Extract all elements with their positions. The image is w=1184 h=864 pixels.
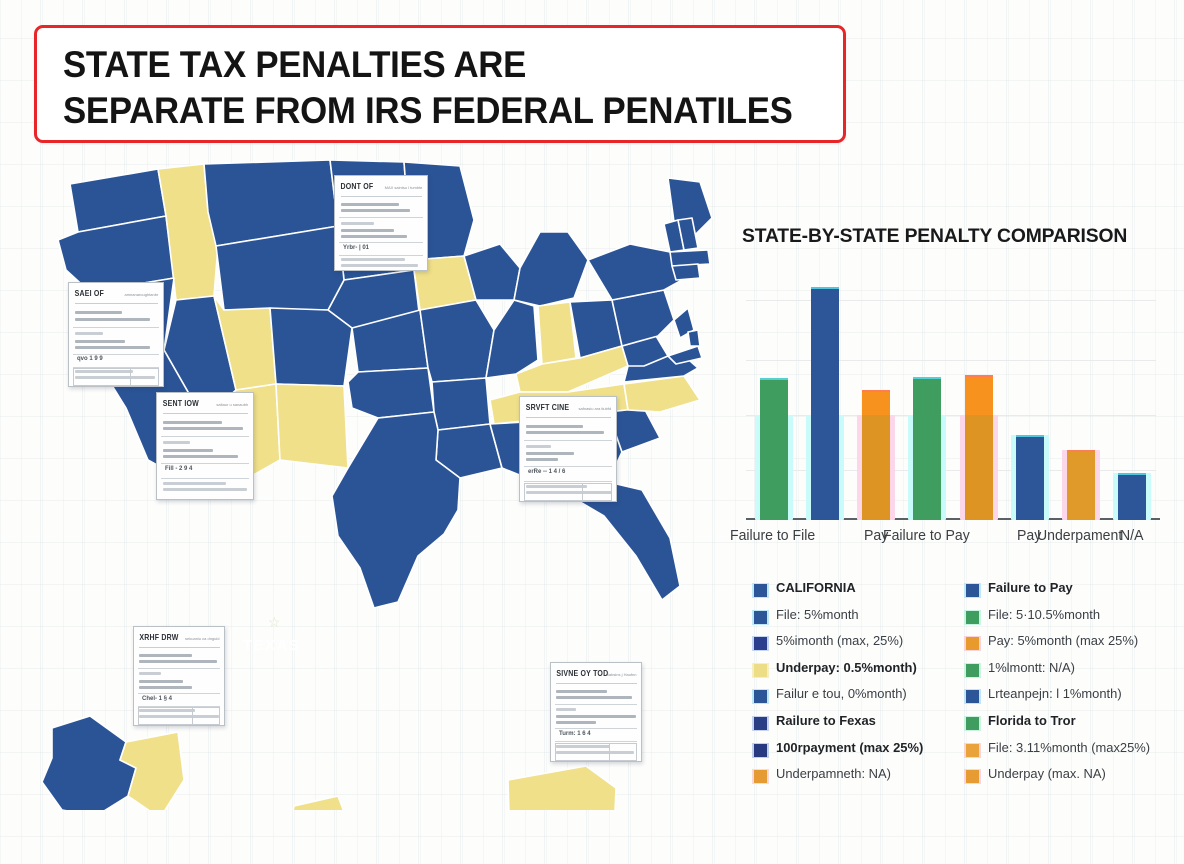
state-ar (432, 378, 490, 430)
legend-label: Underpay (max. NA) (988, 766, 1106, 781)
legend-swatch (754, 744, 767, 757)
doc-rule (555, 704, 638, 705)
doc-card-amount: Chel- 1 § 4 (142, 696, 172, 702)
legend-label: Railure to Fexas (776, 713, 876, 728)
legend-swatch (754, 664, 767, 677)
doc-line (526, 445, 551, 448)
doc-card-title: DONT OF (341, 183, 374, 191)
legend-label: 5%imonth (max, 25%) (776, 633, 903, 648)
chart-bar[interactable] (862, 390, 890, 520)
doc-line (139, 686, 191, 689)
chart-bar-slot (862, 390, 890, 520)
chart-bar-upper (913, 377, 941, 415)
legend-label: Pay: 5%month (max 25%) (988, 633, 1138, 648)
legend-label: 1%lmontt: N/A) (988, 660, 1075, 675)
legend-swatch-core (966, 637, 979, 650)
chart-bar-rim (965, 375, 993, 377)
legend-swatch-core (966, 664, 979, 677)
doc-line (75, 346, 150, 349)
legend-swatch-core (754, 611, 767, 624)
doc-footer-split (524, 483, 612, 501)
doc-line (341, 235, 407, 238)
chart-bar[interactable] (1118, 473, 1146, 520)
doc-line (163, 427, 244, 430)
chart-bar-lower (862, 415, 890, 520)
chart-bar[interactable] (913, 377, 941, 520)
state-in (538, 302, 576, 364)
legend-item[interactable]: Railure to Fexas (750, 711, 962, 738)
doc-card-amount: qvo 1 9 9 (77, 356, 103, 362)
legend-item[interactable]: 100rpayment (max 25%) (750, 738, 962, 765)
doc-rule (138, 693, 221, 694)
doc-card-subtitle: sekuaniu ca dnguid (185, 636, 219, 641)
page-title-line-2: SEPARATE FROM IRS FEDERAL PENATILES (63, 90, 793, 132)
doc-rule (524, 466, 612, 467)
chart-bar-rim (913, 377, 941, 379)
legend-swatch (966, 690, 979, 703)
state-hi (286, 796, 350, 810)
legend-swatch-core (966, 611, 979, 624)
legend-swatch-core (754, 584, 767, 597)
doc-card-amount: erRe -- 1 4 / 6 (528, 469, 565, 475)
page-title-line-1: STATE TAX PENALTIES ARE (63, 44, 526, 86)
doc-card-amount: Turm: 1 6 4 (559, 731, 591, 737)
legend-label: File: 5·10.5%month (988, 607, 1100, 622)
doc-card-5[interactable]: XRHF DRW sekuaniu ca dnguid Chel- 1 § 4 (133, 626, 225, 726)
doc-rule (161, 436, 249, 437)
legend-swatch-core (754, 770, 767, 783)
doc-card-3[interactable]: SENT IOW saltaur u sanaubh Fill - 2 9 4 (156, 392, 254, 500)
legend-swatch (754, 717, 767, 730)
legend-item[interactable]: File: 5·10.5%month (962, 605, 1174, 632)
doc-rule (555, 728, 638, 729)
chart-bar[interactable] (1067, 450, 1095, 520)
doc-line (163, 455, 238, 458)
legend-item[interactable]: Failure to Pay (962, 578, 1174, 605)
doc-card-head: SAEI OF amnanaroughtanbr (75, 290, 159, 304)
legend-swatch-core (754, 664, 767, 677)
state-mi (514, 232, 588, 306)
doc-rule (524, 481, 612, 482)
legend-swatch (966, 584, 979, 597)
legend-column-right: Failure to PayFile: 5·10.5%monthPay: 5%m… (962, 578, 1174, 791)
doc-line (139, 672, 161, 675)
legend-label: Florida to Tror (988, 713, 1076, 728)
legend-swatch (754, 584, 767, 597)
state-ma (670, 250, 710, 266)
doc-rule (161, 463, 249, 464)
chart-bar-rim (862, 390, 890, 392)
doc-line (163, 449, 213, 452)
chart-bar-lower (1067, 450, 1095, 520)
chart-x-label: Failure to Pay (883, 528, 970, 544)
state-ak (42, 716, 136, 810)
state-de (688, 330, 700, 346)
doc-card-title: SRVFT CINE (526, 404, 570, 412)
state-nm (276, 384, 348, 468)
doc-card-head: SRVFT CINE safnasiu ara tiubfd (526, 404, 611, 418)
legend-label: Failur e tou, 0%month) (776, 686, 907, 701)
doc-line (139, 660, 216, 663)
doc-card-4[interactable]: SRVFT CINE safnasiu ara tiubfd erRe -- 1… (519, 396, 617, 502)
doc-line (526, 458, 559, 461)
legend-swatch-core (754, 744, 767, 757)
legend-swatch (966, 637, 979, 650)
doc-line (139, 654, 191, 657)
chart-bar[interactable] (811, 287, 839, 520)
legend-label: Lrteanpejn: l 1%month) (988, 686, 1122, 701)
legend-swatch-core (966, 690, 979, 703)
legend-swatch-core (966, 717, 979, 730)
doc-rule (339, 255, 424, 256)
doc-card-1[interactable]: DONT OF MAX saintsu l tumbte Yrbr- | 01 (334, 175, 428, 271)
chart-bar-upper (760, 378, 788, 415)
legend-item[interactable]: Failur e tou, 0%month) (750, 684, 962, 711)
legend-label: File: 3.11%month (max25%) (988, 740, 1150, 755)
legend-swatch-core (966, 584, 979, 597)
doc-rule (161, 478, 249, 479)
chart-legend: CALIFORNIAFile: 5%month5%imonth (max, 25… (750, 578, 1170, 790)
state-ny (588, 244, 682, 300)
legend-item[interactable]: 1%lmontt: N/A) (962, 658, 1174, 685)
gridline (746, 300, 1156, 301)
chart-bar-slot (913, 377, 941, 520)
chart-bar-slot (1016, 435, 1044, 520)
chart-bar-slot (760, 378, 788, 520)
doc-line (341, 258, 405, 261)
doc-card-amount: Fill - 2 9 4 (165, 466, 192, 472)
legend-item[interactable]: 5%imonth (max, 25%) (750, 631, 962, 658)
doc-card-subtitle: amnanaroughtanbr (125, 292, 159, 297)
chart-bar-lower (1016, 435, 1044, 520)
doc-card-subtitle: safnasiu ara tiubfd (579, 406, 612, 411)
doc-line (341, 203, 400, 206)
chart-title: STATE-BY-STATE PENALTY COMPARISON (742, 225, 1127, 248)
doc-line (556, 721, 596, 724)
chart-bar[interactable] (1016, 435, 1044, 520)
chart-plot-area: Failure to FilePayFailure to PayPayUnder… (746, 280, 1156, 520)
doc-footer-split (73, 368, 160, 386)
legend-swatch (966, 664, 979, 677)
legend-label: CALIFORNIA (776, 580, 856, 595)
doc-line (163, 421, 223, 424)
state-md (668, 346, 702, 364)
legend-swatch-core (966, 770, 979, 783)
legend-label: Underpamneth: NA) (776, 766, 891, 781)
doc-line (556, 696, 632, 699)
legend-swatch-core (966, 744, 979, 757)
legend-item[interactable]: Pay: 5%month (max 25%) (962, 631, 1174, 658)
chart-bar-lower (1118, 473, 1146, 520)
legend-swatch-core (754, 690, 767, 703)
state-ok (348, 368, 434, 418)
legend-item[interactable]: File: 5%month (750, 605, 962, 632)
legend-swatch (754, 611, 767, 624)
state-mo (420, 300, 494, 382)
doc-line (341, 222, 374, 225)
doc-line (526, 431, 605, 434)
legend-swatch (966, 611, 979, 624)
state-ct (672, 264, 700, 280)
doc-line (163, 488, 247, 491)
state-il (486, 300, 538, 378)
chart-bar-rim (1118, 473, 1146, 475)
legend-label: File: 5%month (776, 607, 859, 622)
legend-item[interactable]: Lrteanpejn: l 1%month) (962, 684, 1174, 711)
legend-swatch-core (754, 717, 767, 730)
legend-swatch (966, 770, 979, 783)
doc-line (341, 264, 418, 267)
doc-card-subtitle: saltaur u sanaubh (216, 402, 248, 407)
chart-bar[interactable] (965, 375, 993, 520)
doc-line (75, 318, 150, 321)
chart-x-label: Underpament (1037, 528, 1122, 544)
doc-card-head: SIVNE OY TOD Gabsins j Haufnn (556, 670, 636, 684)
legend-swatch (966, 717, 979, 730)
doc-rule (524, 440, 612, 441)
doc-footer-split (555, 743, 638, 761)
doc-line (556, 715, 635, 718)
chart-bar-lower (913, 415, 941, 520)
legend-item[interactable]: CALIFORNIA (750, 578, 962, 605)
chart-bar-upper (811, 287, 839, 415)
doc-line (341, 209, 411, 212)
legend-swatch (966, 744, 979, 757)
doc-card-title: SENT IOW (163, 400, 199, 408)
doc-line (526, 452, 574, 455)
chart-bar-lower (760, 415, 788, 520)
legend-label: Underpay: 0.5%month) (776, 660, 917, 675)
legend-item[interactable]: File: 3.11%month (max25%) (962, 738, 1174, 765)
doc-rule (339, 242, 424, 243)
doc-card-amount: Yrbr- | 01 (343, 245, 369, 251)
doc-line (526, 425, 584, 428)
doc-line (163, 482, 226, 485)
doc-card-6[interactable]: SIVNE OY TOD Gabsins j Haufnn Turm: 1 6 … (550, 662, 642, 762)
us-map[interactable]: DONT OF MAX saintsu l tumbte Yrbr- | 01 … (8, 160, 728, 810)
doc-card-head: XRHF DRW sekuaniu ca dnguid (139, 634, 219, 648)
chart-bar-upper (965, 375, 993, 415)
doc-rule (73, 354, 160, 355)
chart-bar-slot (811, 287, 839, 520)
doc-line (556, 708, 576, 711)
doc-line (75, 332, 103, 335)
doc-footer-split (138, 707, 221, 725)
legend-swatch-core (754, 637, 767, 650)
legend-swatch (754, 770, 767, 783)
legend-column-left: CALIFORNIAFile: 5%month5%imonth (max, 25… (750, 578, 962, 791)
texas-state-label: TEXAS (243, 637, 300, 654)
doc-card-2[interactable]: SAEI OF amnanaroughtanbr qvo 1 9 9 (68, 282, 164, 387)
state-co (270, 308, 352, 386)
legend-label: Failure to Pay (988, 580, 1073, 595)
doc-card-head: DONT OF MAX saintsu l tumbte (341, 183, 423, 197)
chart-bar-slot (1067, 450, 1095, 520)
title-banner: STATE TAX PENALTIES ARE SEPARATE FROM IR… (34, 25, 846, 143)
chart-bar-upper (862, 390, 890, 415)
chart-bar-slot (1118, 473, 1146, 520)
legend-label: 100rpayment (max 25%) (776, 740, 923, 755)
legend-item[interactable]: Underpay: 0.5%month) (750, 658, 962, 685)
chart-bar-lower (811, 415, 839, 520)
doc-line (341, 229, 394, 232)
chart-bar-slot (965, 375, 993, 520)
legend-item[interactable]: Florida to Tror (962, 711, 1174, 738)
chart-bar-rim (1016, 435, 1044, 437)
doc-line (556, 690, 606, 693)
legend-swatch (754, 690, 767, 703)
doc-line (75, 340, 126, 343)
doc-line (75, 311, 122, 314)
chart-bar[interactable] (760, 378, 788, 520)
doc-card-subtitle: MAX saintsu l tumbte (385, 185, 423, 190)
doc-rule (555, 741, 638, 742)
doc-rule (73, 327, 160, 328)
chart-bar-lower (965, 415, 993, 520)
state-inset-pr (508, 766, 658, 810)
doc-card-subtitle: Gabsins j Haufnn (606, 672, 637, 677)
chart-x-label: N/A (1120, 528, 1143, 544)
chart-x-label: Failure to File (730, 528, 815, 544)
legend-swatch (754, 637, 767, 650)
doc-card-title: SAEI OF (75, 290, 104, 298)
chart-bar-rim (760, 378, 788, 380)
legend-item[interactable]: Underpay (max. NA) (962, 764, 1174, 791)
doc-card-head: SENT IOW saltaur u sanaubh (163, 400, 248, 414)
gridline (746, 360, 1156, 361)
doc-rule (138, 668, 221, 669)
chart-bar-rim (1067, 450, 1095, 452)
doc-line (139, 680, 182, 683)
doc-rule (339, 217, 424, 218)
doc-card-title: SIVNE OY TOD (556, 670, 608, 678)
penalty-comparison-chart: STATE-BY-STATE PENALTY COMPARISON Failur… (736, 225, 1166, 555)
chart-bar-rim (811, 287, 839, 289)
legend-item[interactable]: Underpamneth: NA) (750, 764, 962, 791)
doc-line (163, 441, 190, 444)
doc-card-title: XRHF DRW (139, 634, 178, 642)
